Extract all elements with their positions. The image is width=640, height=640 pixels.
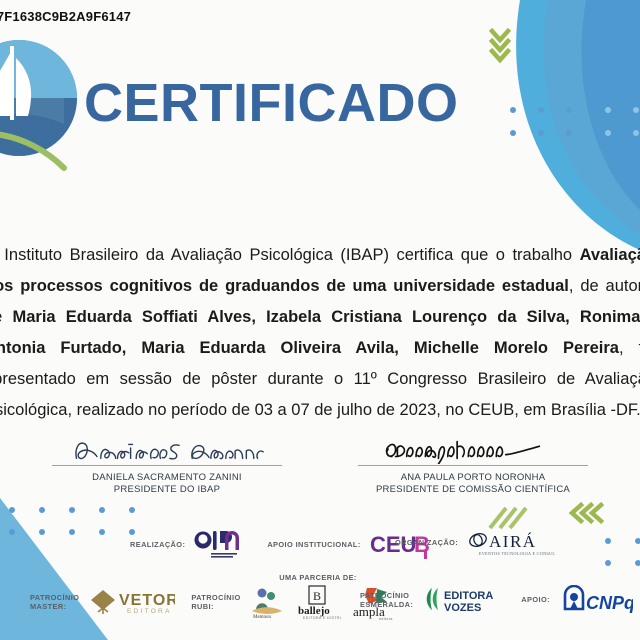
patrocinio-rubi-label: PATROCÍNIO RUBI:: [191, 593, 240, 612]
svg-text:EDITORA E DISTRIBUIDORA: EDITORA E DISTRIBUIDORA: [303, 616, 341, 620]
signature-block-ibap-president: DANIELA SACRAMENTO ZANINI PRESIDENTE DO …: [52, 436, 282, 496]
dot-grid-bottom-left: [9, 507, 135, 535]
ana-paula-noronha-signature: [358, 436, 588, 464]
realizacao-label: REALIZAÇÃO:: [130, 540, 185, 550]
patrocinio-master-label: PATROCÍNIO MASTER:: [30, 593, 79, 612]
patrocinio-esmeralda-label-line1: PATROCÍNIO: [360, 591, 409, 600]
diagonal-slashes-decoration: [490, 508, 526, 528]
certificate-canvas: B 907F1638C9B2A9F6147 CERTIFICADO O Inst…: [0, 0, 640, 640]
signatory-role: PRESIDENTE DE COMISSÃO CIENTÍFICA: [358, 484, 588, 496]
signatory-name: ANA PAULA PORTO NORONHA: [358, 472, 588, 484]
parceria-label: UMA PARCERIA DE:: [279, 573, 357, 582]
patrocinio-master-label-line1: PATROCÍNIO: [30, 593, 79, 602]
svg-text:CNPq: CNPq: [586, 593, 633, 613]
document-id-text: B 907F1638C9B2A9F6147: [0, 0, 131, 23]
ibap-wordmark-logo: [194, 528, 246, 562]
vetor-editora-logo: VETOR EDITORA: [87, 586, 175, 618]
apoio-label: APOIO:: [521, 595, 550, 605]
body-authors: Maria Eduarda Soffiati Alves, Izabela Cr…: [0, 308, 640, 357]
patrocinio-master-label-line2: MASTER:: [30, 602, 66, 611]
signature-rule: [52, 464, 282, 466]
patrocinio-esmeralda-label: PATROCÍNIO ESMERALDA:: [360, 591, 413, 610]
svg-text:EVENTOS TECNOLOGIA E CONSULTOR: EVENTOS TECNOLOGIA E CONSULTORIA: [479, 551, 555, 556]
dot-grid-bottom-right: [605, 538, 640, 566]
daniela-zanini-signature: [52, 436, 282, 464]
cnpq-logo: CNPq: [559, 585, 633, 615]
sponsor-row-organizacao: ORGANIZAÇÃO: AIRÁ EVENTOS TECNOLOGIA E C…: [395, 528, 555, 558]
body-part-1: O Instituto Brasileiro da Avaliação Psic…: [0, 246, 580, 264]
chevron-down-icon: [492, 31, 508, 60]
document-id-line2: 907F1638C9B2A9F6147: [0, 10, 131, 24]
svg-text:EDITORA: EDITORA: [127, 608, 172, 615]
patrocinio-rubi-label-line1: PATROCÍNIO: [191, 593, 240, 602]
svg-text:B: B: [313, 589, 321, 603]
signature-rule: [358, 464, 588, 466]
svg-text:EDITORA: EDITORA: [444, 590, 493, 602]
signatory-name: DANIELA SACRAMENTO ZANINI: [52, 472, 282, 484]
ballejo-logo: B ballejo EDITORA E DISTRIBUIDORA: [293, 584, 341, 620]
svg-text:Memnon: Memnon: [253, 615, 272, 620]
patrocinio-rubi-label-line2: RUBI:: [191, 602, 214, 611]
chevron-left-icon: [572, 505, 601, 521]
sponsor-row-bottom-left: PATROCÍNIO MASTER: VETOR EDITORA PATROCÍ…: [30, 584, 407, 620]
organizacao-label: ORGANIZAÇÃO:: [395, 538, 458, 548]
signature-block-scientific-committee: ANA PAULA PORTO NORONHA PRESIDENTE DE CO…: [358, 436, 588, 496]
svg-text:VETOR: VETOR: [119, 592, 175, 609]
editora-vozes-logo: EDITORA VOZES: [422, 584, 496, 616]
svg-text:VOZES: VOZES: [444, 602, 481, 614]
ibap-seal-logo: [0, 32, 82, 172]
aira-logo: AIRÁ EVENTOS TECNOLOGIA E CONSULTORIA: [465, 528, 555, 558]
sponsor-row-realizacao: REALIZAÇÃO: APOIO INSTITUCIONAL: CEU B: [130, 528, 432, 562]
memnon-logo: Memnon: [249, 584, 285, 620]
sponsor-row-bottom-right: PATROCÍNIO ESMERALDA: EDITORA VOZES APOI…: [360, 584, 640, 616]
apoio-institucional-label: APOIO INSTITUCIONAL:: [267, 540, 360, 550]
svg-text:AIRÁ: AIRÁ: [489, 532, 537, 551]
certificate-body-text: O Instituto Brasileiro da Avaliação Psic…: [0, 240, 640, 426]
patrocinio-esmeralda-label-line2: ESMERALDA:: [360, 600, 413, 609]
svg-text:editora: editora: [379, 617, 393, 620]
signatory-role: PRESIDENTE DO IBAP: [52, 484, 282, 496]
parceria-label-wrap: UMA PARCERIA DE:: [243, 567, 393, 585]
page-title: CERTIFICADO: [84, 76, 458, 130]
